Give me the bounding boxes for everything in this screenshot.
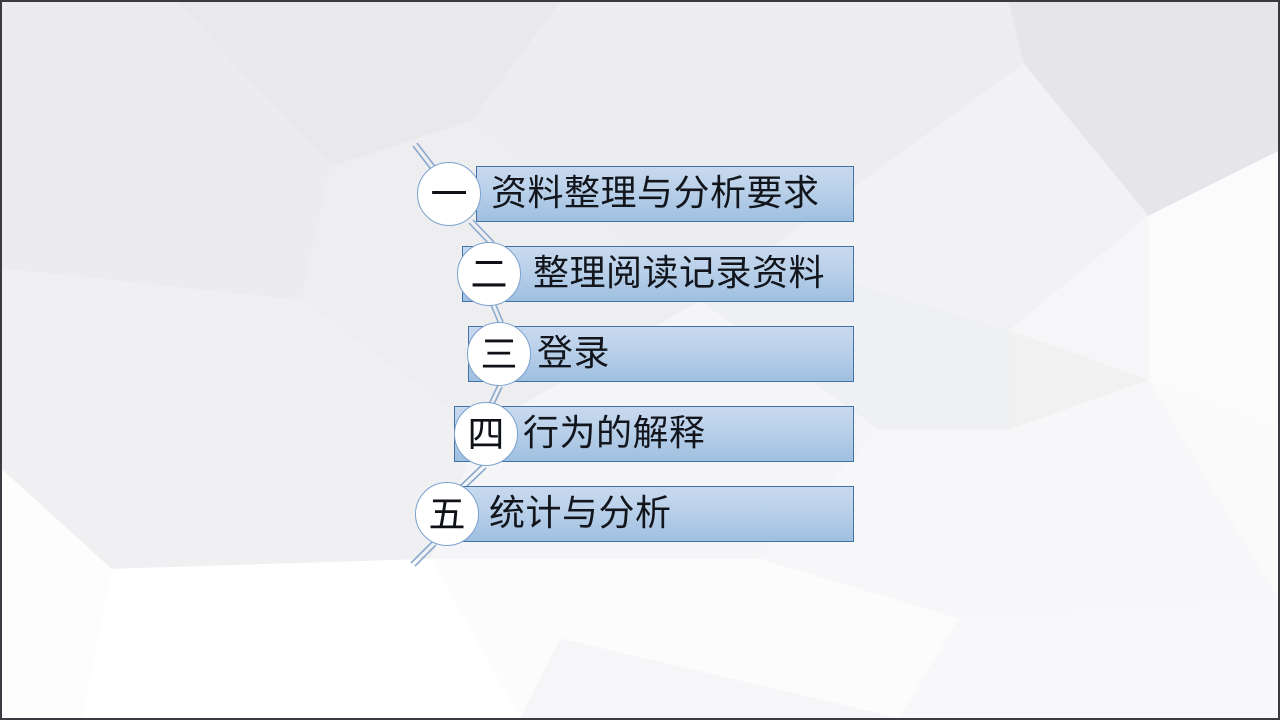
agenda-marker-number: 一 — [418, 163, 480, 225]
agenda-item-label: 资料整理与分析要求 — [491, 166, 820, 222]
agenda-marker-number: 四 — [455, 403, 517, 465]
agenda-marker[interactable]: 五 — [415, 482, 479, 546]
agenda-marker[interactable]: 二 — [457, 242, 521, 306]
agenda-item-label: 登录 — [537, 326, 610, 382]
agenda-marker-number: 二 — [458, 243, 520, 305]
agenda-marker-number: 三 — [468, 323, 530, 385]
presentation-slide: 资料整理与分析要求 一 整理阅读记录资料 二 登录 三 行为的解释 — [0, 0, 1280, 720]
agenda-item-label: 行为的解释 — [523, 406, 706, 462]
agenda-marker[interactable]: 一 — [417, 162, 481, 226]
agenda-marker[interactable]: 三 — [467, 322, 531, 386]
agenda-diagram: 资料整理与分析要求 一 整理阅读记录资料 二 登录 三 行为的解释 — [2, 2, 1280, 720]
agenda-marker[interactable]: 四 — [454, 402, 518, 466]
agenda-item-label: 统计与分析 — [489, 486, 672, 542]
agenda-marker-number: 五 — [416, 483, 478, 545]
agenda-item-label: 整理阅读记录资料 — [533, 246, 825, 302]
